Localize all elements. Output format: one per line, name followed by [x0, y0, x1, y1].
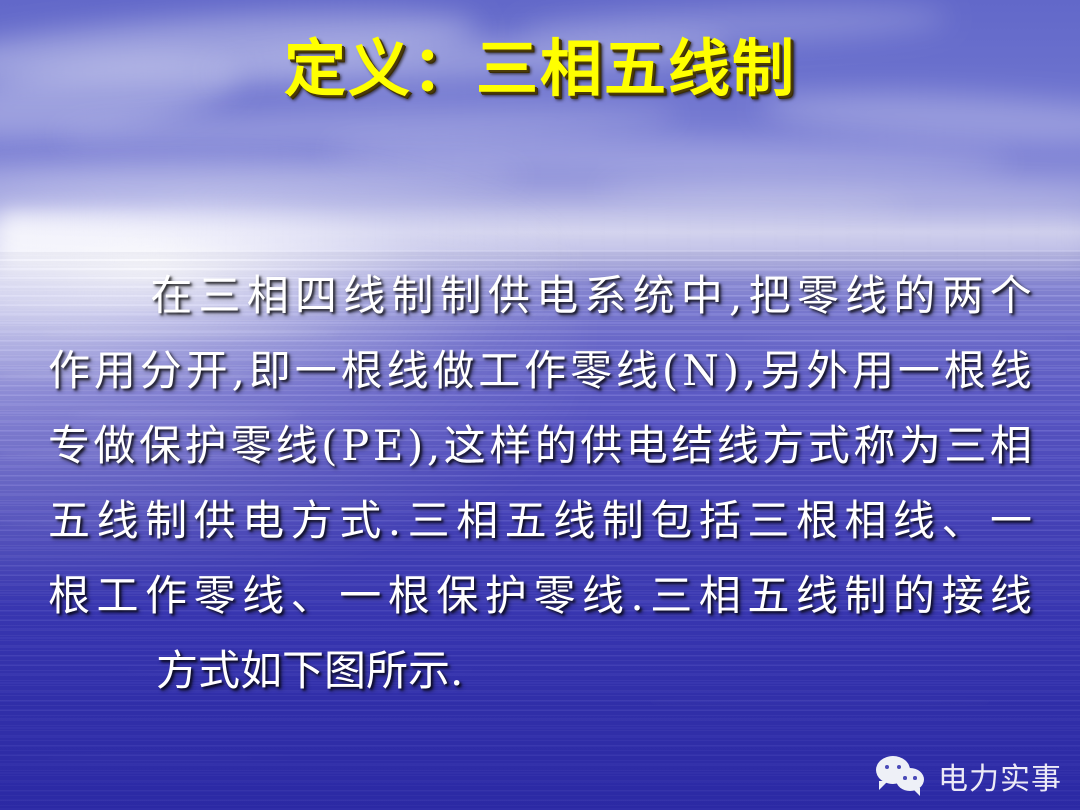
- body-glyph: 护: [185, 408, 227, 483]
- body-glyph: 做: [432, 333, 474, 408]
- body-line: 专做保护零线(PE),这样的供电结线方式称为三相: [48, 408, 1032, 483]
- body-glyph: 制: [602, 483, 644, 558]
- body-glyph: 一: [339, 558, 381, 633]
- cloud-decoration: [150, 196, 910, 218]
- body-glyph: 根: [48, 558, 90, 633]
- body-glyph: 保: [436, 558, 478, 633]
- body-glyph: 的: [893, 258, 935, 333]
- body-glyph: 供: [488, 258, 530, 333]
- body-glyph: 、: [291, 558, 333, 633]
- body-glyph: 作: [48, 333, 90, 408]
- body-glyph: 称: [853, 408, 895, 483]
- body-glyph: 用: [94, 333, 136, 408]
- body-glyph: 用: [852, 333, 894, 408]
- body-line-text: 方式如下图所示.: [48, 633, 463, 708]
- body-glyph: 接: [941, 558, 983, 633]
- wechat-bubble-small: [896, 768, 924, 791]
- body-glyph: 方: [291, 483, 333, 558]
- body-glyph: 三: [944, 408, 986, 483]
- body-glyph: 根: [796, 483, 838, 558]
- bubble-tail: [879, 781, 888, 790]
- body-line: 五线制供电方式.三相五线制包括三根相线、一: [48, 483, 1032, 558]
- body-glyph: 一: [898, 333, 940, 408]
- body-glyph: 四: [295, 258, 337, 333]
- body-glyph: 电: [626, 408, 668, 483]
- body-glyph: .: [630, 558, 643, 633]
- body-glyph: 线: [553, 483, 595, 558]
- body-glyph: 线: [97, 483, 139, 558]
- body-glyph: 中: [681, 258, 723, 333]
- body-glyph: ,: [729, 258, 742, 333]
- body-glyph: 线: [990, 558, 1032, 633]
- body-glyph: ): [407, 408, 423, 483]
- body-glyph: 制: [844, 558, 886, 633]
- body-glyph: 括: [699, 483, 741, 558]
- body-glyph: 三: [747, 483, 789, 558]
- body-line: 作用分开,即一根线做工作零线(N),另外用一根线: [48, 333, 1032, 408]
- body-glyph: 外: [806, 333, 848, 408]
- body-glyph: (: [662, 333, 678, 408]
- body-glyph: 线: [717, 408, 759, 483]
- slide-title: 定义：三相五线制: [0, 36, 1080, 101]
- body-glyph: 五: [747, 558, 789, 633]
- body-glyph: 三: [408, 483, 450, 558]
- body-glyph: 五: [505, 483, 547, 558]
- body-glyph: 线: [845, 258, 887, 333]
- body-glyph: 、: [941, 483, 983, 558]
- body-glyph: 线: [386, 333, 428, 408]
- body-glyph: 包: [650, 483, 692, 558]
- body-glyph: P: [341, 408, 369, 483]
- bubble-eye: [885, 765, 889, 769]
- body-glyph: 根: [341, 333, 383, 408]
- body-glyph: 供: [580, 408, 622, 483]
- wechat-icon: [876, 756, 928, 796]
- body-glyph: 线: [242, 558, 284, 633]
- body-glyph: 式: [339, 483, 381, 558]
- body-glyph: ,: [743, 333, 756, 408]
- body-glyph: 式: [808, 408, 850, 483]
- body-glyph: 的: [893, 558, 935, 633]
- body-glyph: 供: [194, 483, 236, 558]
- body-glyph: 一: [295, 333, 337, 408]
- body-glyph: E: [373, 408, 404, 483]
- body-glyph: 为: [899, 408, 941, 483]
- body-glyph: 做: [94, 408, 136, 483]
- body-glyph: 相: [456, 483, 498, 558]
- body-glyph: 三: [198, 258, 240, 333]
- watermark-label: 电力实事: [938, 754, 1062, 798]
- body-glyph: 零: [194, 558, 236, 633]
- body-glyph: N: [682, 333, 719, 408]
- body-glyph: 制: [145, 483, 187, 558]
- body-glyph: 作: [524, 333, 566, 408]
- body-glyph: 线: [616, 333, 658, 408]
- body-glyph: .: [388, 483, 401, 558]
- body-glyph: 零: [533, 558, 575, 633]
- body-glyph: 线: [796, 558, 838, 633]
- body-glyph: 工: [478, 333, 520, 408]
- body-glyph: 线: [582, 558, 624, 633]
- body-glyph: 相: [699, 558, 741, 633]
- bubble-eye: [913, 776, 917, 780]
- bubble-eye: [903, 776, 907, 780]
- presentation-slide: 定义：三相五线制 在三相四线制制供电系统中,把零线的两个作用分开,即一根线做工作…: [0, 0, 1080, 810]
- body-glyph: 三: [650, 558, 692, 633]
- bubble-eye: [897, 765, 901, 769]
- body-glyph: 即: [249, 333, 291, 408]
- body-glyph: ,: [427, 408, 440, 483]
- cloud-decoration: [0, 163, 520, 199]
- body-glyph: 制: [391, 258, 433, 333]
- body-glyph: 线: [276, 408, 318, 483]
- body-glyph: 相: [247, 258, 289, 333]
- body-glyph: 工: [97, 558, 139, 633]
- body-glyph: 根: [944, 333, 986, 408]
- body-glyph: 零: [230, 408, 272, 483]
- body-glyph: ): [723, 333, 739, 408]
- body-glyph: 线: [893, 483, 935, 558]
- cloud-decoration: [330, 134, 1010, 178]
- body-glyph: 统: [633, 258, 675, 333]
- body-glyph: 电: [536, 258, 578, 333]
- body-glyph: 样: [489, 408, 531, 483]
- body-glyph: 根: [388, 558, 430, 633]
- cloud-decoration: [60, 97, 681, 155]
- wave-streak: [0, 756, 300, 760]
- body-glyph: 保: [139, 408, 181, 483]
- body-glyph: 另: [760, 333, 802, 408]
- body-glyph: 零: [570, 333, 612, 408]
- body-glyph: ,: [232, 333, 245, 408]
- body-glyph: 结: [671, 408, 713, 483]
- body-glyph: 开: [186, 333, 228, 408]
- body-line: 根工作零线、一根保护零线.三相五线制的接线: [48, 558, 1032, 633]
- body-glyph: 专: [48, 408, 90, 483]
- body-glyph: 把: [749, 258, 791, 333]
- watermark: 电力实事: [876, 754, 1062, 798]
- body-line: 在三相四线制制供电系统中,把零线的两个: [48, 258, 1032, 333]
- body-glyph: 线: [343, 258, 385, 333]
- bubble-tail: [912, 788, 920, 796]
- body-glyph: 个: [990, 258, 1032, 333]
- body-glyph: 电: [242, 483, 284, 558]
- body-glyph: 在: [150, 258, 192, 333]
- body-glyph: 两: [942, 258, 984, 333]
- body-glyph: 的: [535, 408, 577, 483]
- slide-body-text: 在三相四线制制供电系统中,把零线的两个作用分开,即一根线做工作零线(N),另外用…: [48, 258, 1032, 708]
- body-glyph: 这: [444, 408, 486, 483]
- body-glyph: 相: [990, 408, 1032, 483]
- body-glyph: 系: [584, 258, 626, 333]
- body-glyph: 作: [145, 558, 187, 633]
- body-glyph: 护: [485, 558, 527, 633]
- cloud-decoration: [600, 177, 1080, 210]
- body-glyph: 零: [797, 258, 839, 333]
- body-glyph: 方: [762, 408, 804, 483]
- body-glyph: 相: [844, 483, 886, 558]
- body-glyph: 制: [440, 258, 482, 333]
- body-line: 方式如下图所示.: [48, 633, 1032, 708]
- body-glyph: (: [321, 408, 337, 483]
- body-glyph: 分: [140, 333, 182, 408]
- body-glyph: 五: [48, 483, 90, 558]
- body-glyph: 一: [990, 483, 1032, 558]
- body-glyph: 线: [990, 333, 1032, 408]
